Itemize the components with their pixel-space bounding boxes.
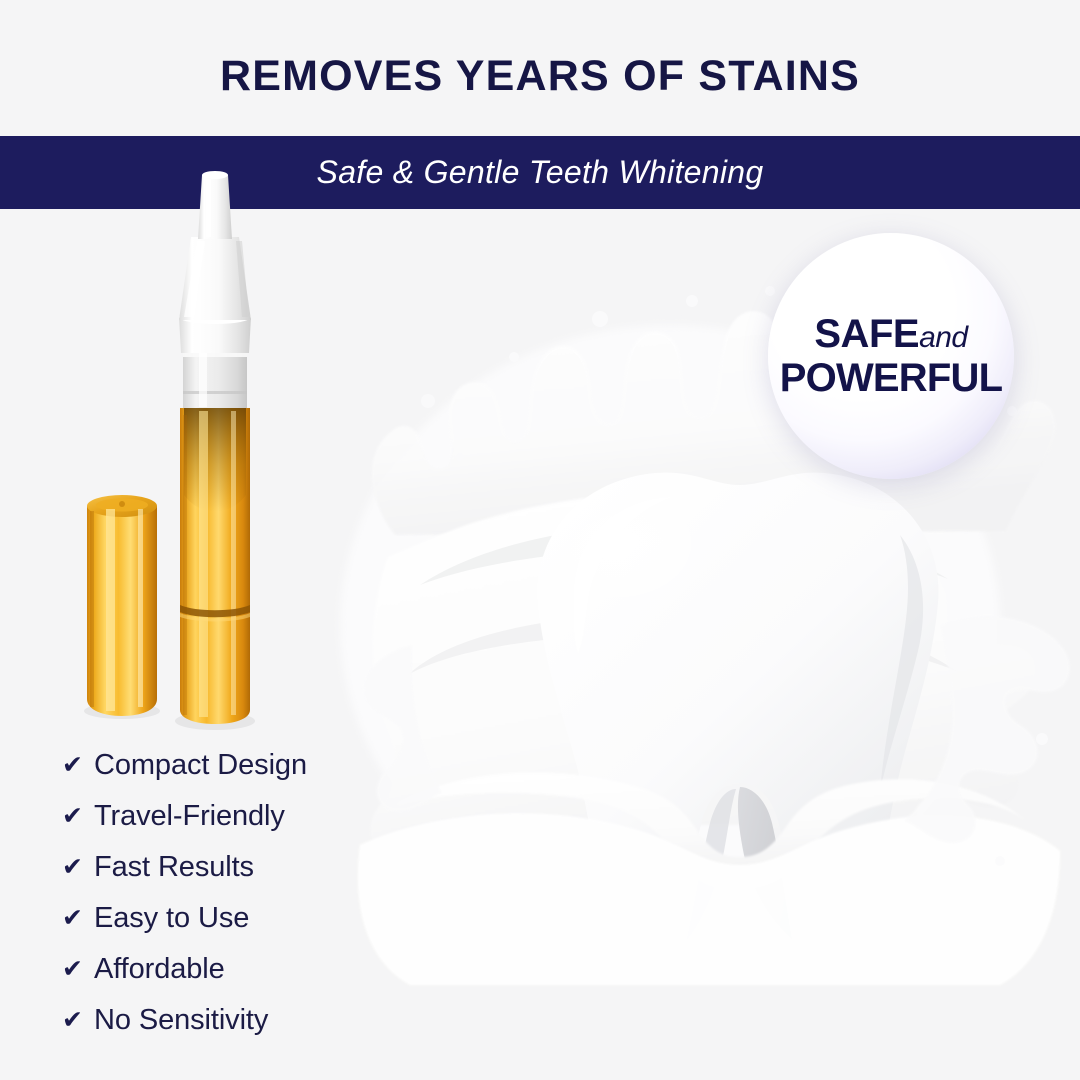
badge-powerful-text: POWERFUL <box>780 358 1002 398</box>
check-icon: ✔ <box>62 906 94 931</box>
list-item: ✔ Travel-Friendly <box>62 791 402 842</box>
check-icon: ✔ <box>62 1008 94 1033</box>
list-item: ✔ Compact Design <box>62 740 402 791</box>
whitening-pen-product-image <box>60 165 300 735</box>
feature-list: ✔ Compact Design ✔ Travel-Friendly ✔ Fas… <box>62 740 402 1046</box>
badge-and-text: and <box>919 321 968 354</box>
feature-label: Fast Results <box>94 853 254 882</box>
pen-tip <box>179 171 251 353</box>
banner-subtitle: Safe & Gentle Teeth Whitening <box>317 154 764 191</box>
feature-label: Easy to Use <box>94 904 249 933</box>
badge-safe-text: SAFE <box>814 312 919 356</box>
list-item: ✔ No Sensitivity <box>62 995 402 1046</box>
check-icon: ✔ <box>62 753 94 778</box>
safe-and-powerful-badge: SAFEand POWERFUL <box>768 233 1014 479</box>
list-item: ✔ Affordable <box>62 944 402 995</box>
check-icon: ✔ <box>62 804 94 829</box>
list-item: ✔ Easy to Use <box>62 893 402 944</box>
feature-label: Compact Design <box>94 751 307 780</box>
pen-body <box>180 408 250 724</box>
check-icon: ✔ <box>62 957 94 982</box>
page-title: REMOVES YEARS OF STAINS <box>0 54 1080 99</box>
check-icon: ✔ <box>62 855 94 880</box>
badge-line-one: SAFEand <box>814 314 967 354</box>
pen-cap <box>87 495 157 716</box>
list-item: ✔ Fast Results <box>62 842 402 893</box>
feature-label: Affordable <box>94 955 225 984</box>
pen-collar <box>183 351 247 408</box>
product-infographic: REMOVES YEARS OF STAINS Safe & Gentle Te… <box>0 0 1080 1080</box>
feature-label: Travel-Friendly <box>94 802 285 831</box>
feature-label: No Sensitivity <box>94 1006 268 1035</box>
